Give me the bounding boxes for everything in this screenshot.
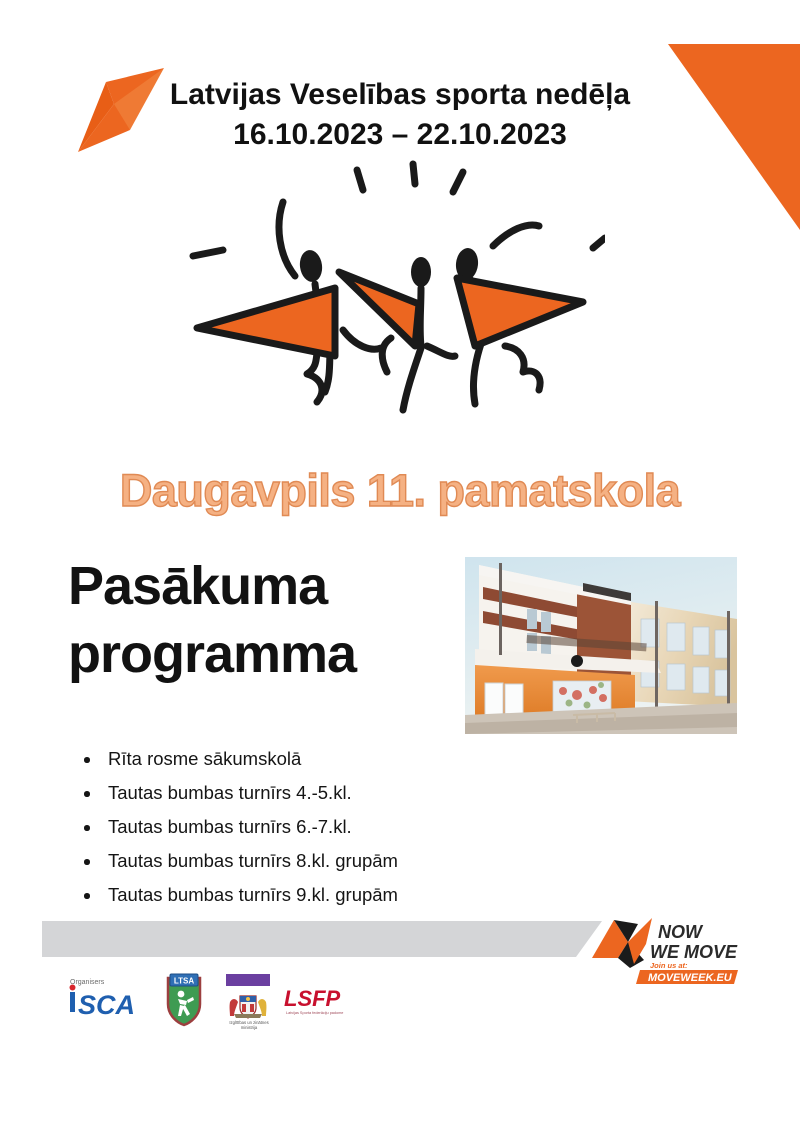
ltsa-logo: LTSA [160, 970, 208, 1028]
list-item: Rīta rosme sākumskolā [72, 750, 552, 769]
corner-triangle-decoration [630, 0, 800, 230]
program-list: Rīta rosme sākumskolā Tautas bumbas turn… [72, 750, 552, 920]
list-item: Tautas bumbas turnīrs 6.-7.kl. [72, 818, 552, 837]
nowwemove-logo: NOW WE MOVE Join us at: MOVEWEEK.EU [588, 914, 748, 986]
lsfp-subtitle: Latvijas Sporta federāciju padome [286, 1011, 343, 1015]
ministry-logo: Izglītības un zinātnes ministrija [220, 972, 278, 1032]
isca-logo: Organisers SCA [68, 974, 154, 1020]
list-item: Tautas bumbas turnīrs 8.kl. grupām [72, 852, 552, 871]
list-item: Tautas bumbas turnīrs 9.kl. grupām [72, 886, 552, 905]
ltsa-wordmark: LTSA [174, 977, 195, 986]
isca-wordmark: SCA [78, 990, 135, 1020]
lsfp-logo: LSFP Latvijas Sporta federāciju padome [282, 986, 366, 1020]
ministry-label-2: ministrija [241, 1025, 258, 1030]
footer-grey-banner [42, 921, 602, 957]
list-item: Tautas bumbas turnīrs 4.-5.kl. [72, 784, 552, 803]
nwm-join: Join us at: [650, 961, 688, 970]
poster-canvas: Latvijas Veselības sporta nedēļa 16.10.2… [0, 0, 800, 1131]
page-title: Daugavpils 11. pamatskola [0, 466, 800, 516]
program-heading-line2: programma [68, 620, 458, 688]
lsfp-wordmark: LSFP [284, 986, 341, 1011]
sponsor-logos: Organisers SCA LTSA [60, 968, 380, 1040]
nwm-line2: WE MOVE [650, 942, 738, 962]
school-building-photo [465, 557, 737, 734]
program-heading: Pasākuma programma [68, 552, 458, 688]
nwm-line1: NOW [658, 922, 704, 942]
moveweek-figures-illustration [175, 160, 605, 430]
program-heading-line1: Pasākuma [68, 552, 458, 620]
organisers-label: Organisers [70, 979, 105, 986]
spark-decoration-icon [68, 46, 173, 161]
nwm-url: MOVEWEEK.EU [648, 972, 733, 984]
